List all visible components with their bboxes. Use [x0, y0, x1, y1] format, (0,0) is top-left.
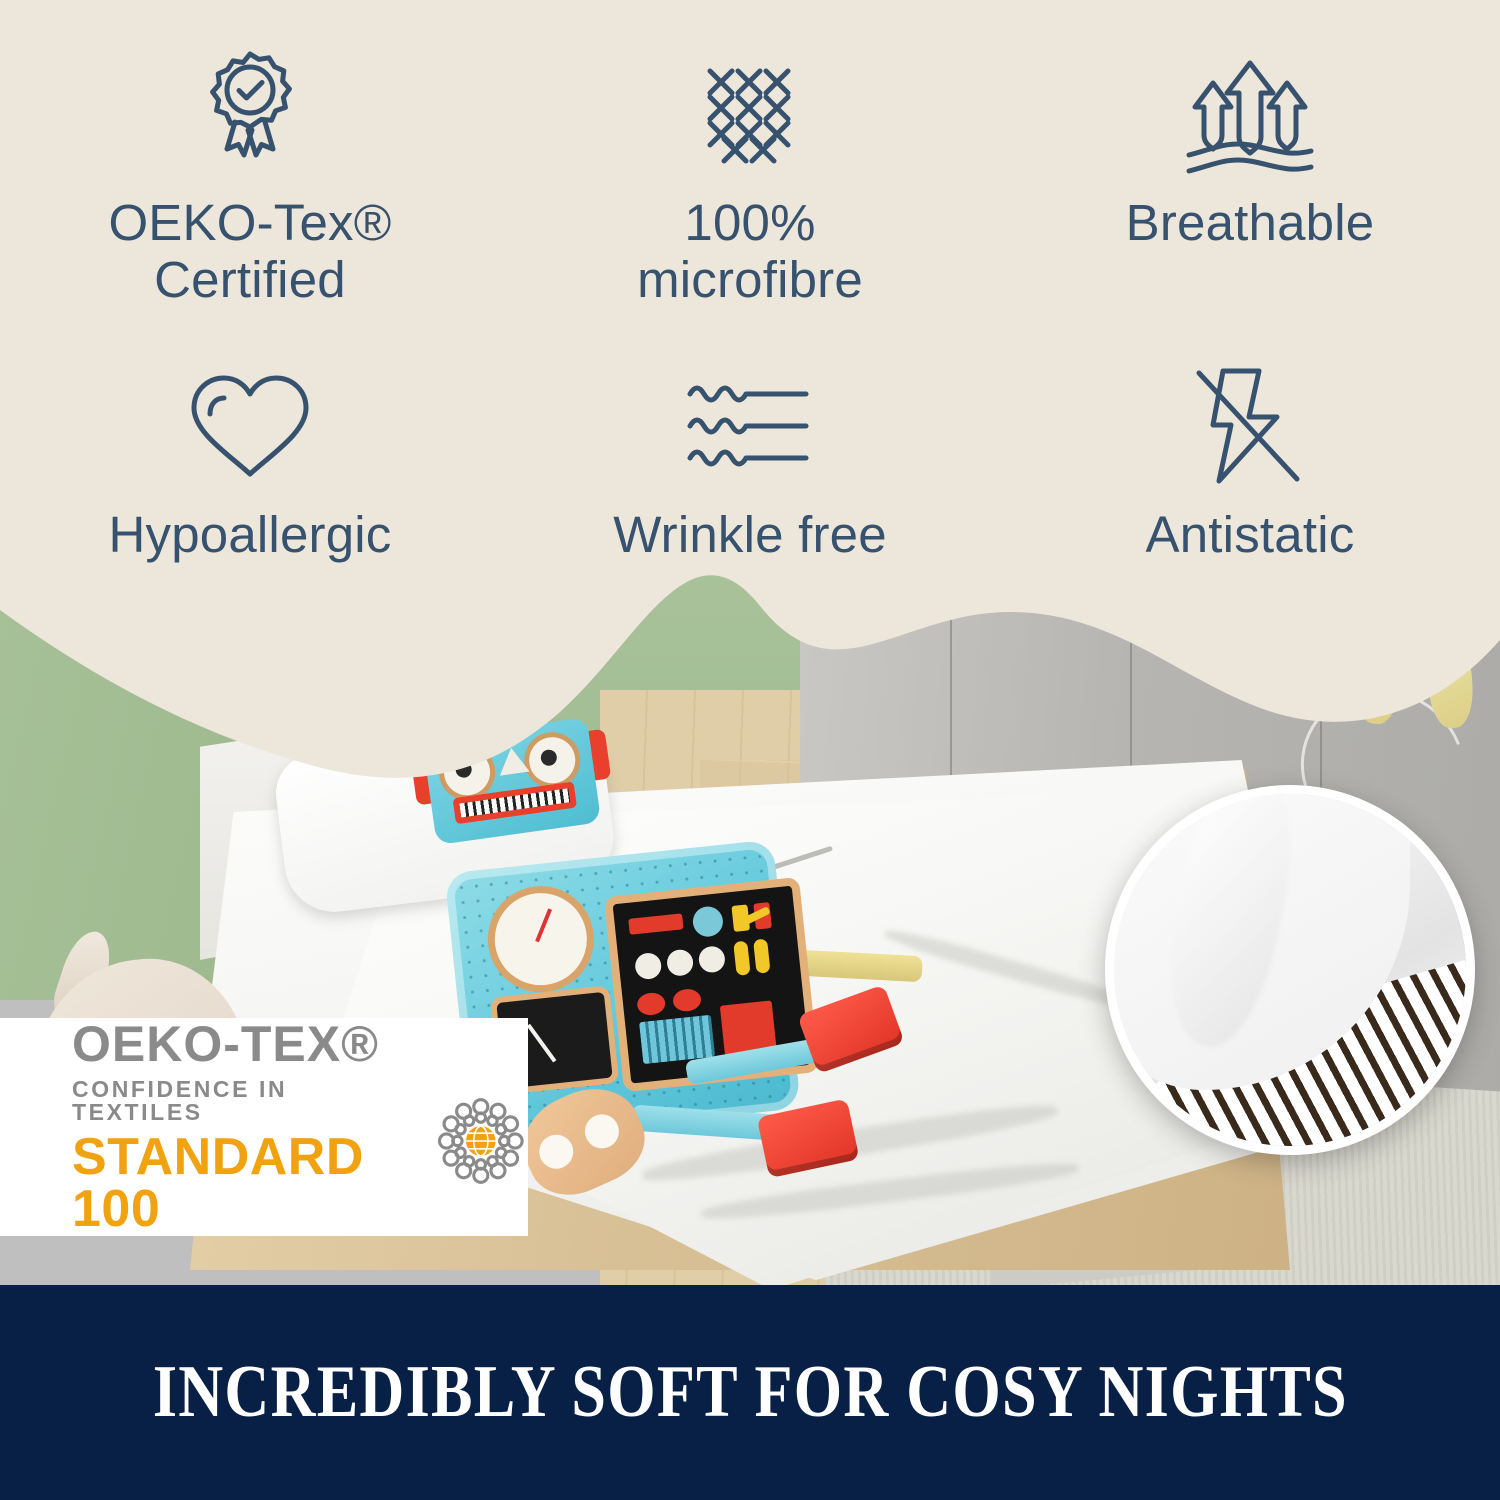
oeko-tex-standard-100-badge: OEKO-TEX® CONFIDENCE IN TEXTILES STANDAR…	[0, 1018, 528, 1236]
badge-standard: STANDARD 100	[72, 1131, 414, 1235]
badge-subtitle: CONFIDENCE IN TEXTILES	[72, 1078, 414, 1124]
feature-label: Hypoallergic	[108, 506, 391, 563]
feature-antistatic: Antistatic	[1000, 346, 1500, 600]
marketing-infographic: OEKO-Tex® Certified	[0, 0, 1500, 1500]
feature-hypoallergic: Hypoallergic	[0, 346, 500, 600]
oeko-tex-flower-globe-icon	[434, 1087, 528, 1195]
fabric-detail-inset	[1105, 785, 1475, 1155]
no-static-bolt-icon	[1185, 356, 1315, 496]
bottom-banner: INCREDIBLY SOFT FOR COSY NIGHTS	[0, 1285, 1500, 1500]
woven-fabric-icon	[680, 44, 820, 184]
breathable-arrows-icon	[1175, 44, 1325, 184]
feature-label: 100% microfibre	[637, 194, 863, 308]
banner-headline: INCREDIBLY SOFT FOR COSY NIGHTS	[152, 1350, 1347, 1435]
badge-title: OEKO-TEX®	[72, 1019, 414, 1069]
feature-wrinkle-free: Wrinkle free	[500, 346, 1000, 600]
wrinkle-free-lines-icon	[680, 356, 820, 496]
feature-microfibre: 100% microfibre	[500, 0, 1000, 346]
feature-oeko-tex-certified: OEKO-Tex® Certified	[0, 0, 500, 346]
feature-label: Wrinkle free	[613, 506, 887, 563]
heart-icon	[180, 356, 320, 496]
award-rosette-icon	[186, 44, 314, 184]
feature-label: OEKO-Tex® Certified	[108, 194, 391, 308]
feature-breathable: Breathable	[1000, 0, 1500, 346]
feature-grid: OEKO-Tex® Certified	[0, 0, 1500, 600]
feature-label: Breathable	[1126, 194, 1375, 251]
feature-label: Antistatic	[1146, 506, 1355, 563]
